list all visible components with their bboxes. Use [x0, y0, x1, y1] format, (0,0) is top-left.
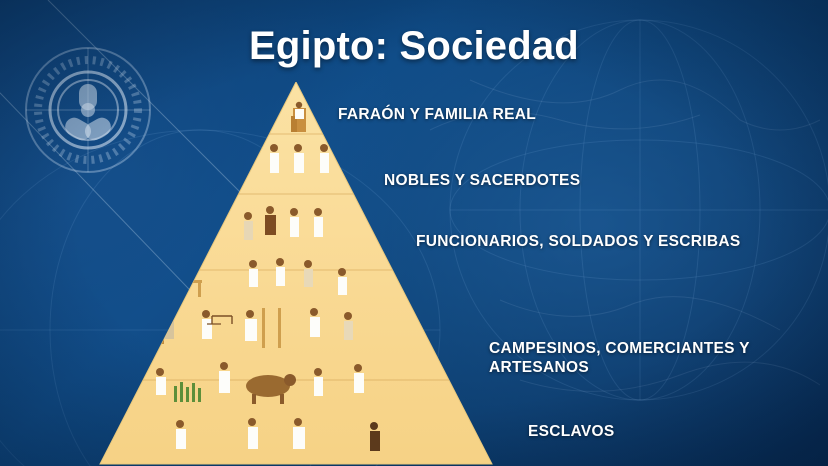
tier-label-slaves: ESCLAVOS	[528, 422, 615, 441]
slide-canvas: Egipto: Sociedad	[0, 0, 828, 466]
pyramid-shape	[96, 82, 496, 466]
figure-worker-1	[344, 312, 353, 340]
figure-farmer-3	[314, 368, 323, 396]
figure-peasant-1	[249, 260, 258, 287]
figure-merchant-1	[276, 258, 285, 286]
tier-label-pharaoh: FARAÓN Y FAMILIA REAL	[338, 105, 536, 124]
figure-scribe-2	[314, 208, 323, 237]
figure-merchant-2	[338, 268, 347, 295]
tier-label-officials: FUNCIONARIOS, SOLDADOS Y ESCRIBAS	[416, 232, 741, 251]
tier-label-nobles: NOBLES Y SACERDOTES	[384, 171, 580, 190]
tier-label-peasants: CAMPESINOS, COMERCIANTES Y ARTESANOS	[489, 339, 809, 378]
figure-noble-1	[235, 144, 246, 178]
figure-scribe-1	[290, 208, 299, 237]
figure-archer	[204, 210, 219, 239]
figure-artisan-2	[304, 260, 313, 287]
page-title: Egipto: Sociedad	[0, 24, 828, 69]
figure-soldier-1	[244, 212, 253, 240]
figure-priest-1	[320, 144, 329, 173]
pyramid-diagram	[96, 82, 496, 466]
figure-noble-2	[270, 144, 279, 173]
